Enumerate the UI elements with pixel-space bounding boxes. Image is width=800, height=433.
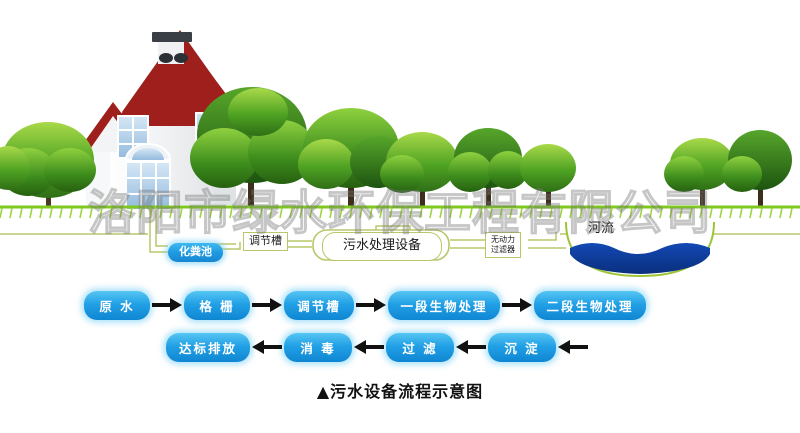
arrow-right-2: [250, 297, 284, 313]
label-septic-tank: 化粪池: [168, 243, 223, 262]
tree-group-left: [0, 122, 96, 206]
tree-group-right-b: [520, 144, 576, 206]
flow-node-filtration[interactable]: 过 滤: [386, 333, 454, 362]
tree-group-right-a: [448, 128, 528, 206]
illustration-scene: 化粪池 调节槽 污水处理设备 无动力 过滤器 河流: [0, 0, 800, 285]
arrow-left-1: [250, 339, 284, 355]
label-passive-filter: 无动力 过滤器: [485, 232, 521, 258]
flow-row-top: 原 水 格 栅 调节槽 一段生物处理 二段生物处理: [0, 288, 800, 322]
flow-node-bio-stage-1[interactable]: 一段生物处理: [388, 291, 500, 320]
flow-node-equalization[interactable]: 调节槽: [284, 291, 354, 320]
flow-node-disinfection[interactable]: 消 毒: [284, 333, 352, 362]
process-flowchart: 原 水 格 栅 调节槽 一段生物处理 二段生物处理 达标排放 消 毒: [0, 288, 800, 388]
flow-node-grating[interactable]: 格 栅: [184, 291, 250, 320]
label-passive-filter-line1: 无动力: [491, 235, 515, 245]
label-equalization-tank: 调节槽: [243, 232, 288, 251]
flow-node-sedimentation[interactable]: 沉 淀: [488, 333, 556, 362]
arrow-left-4: [556, 339, 590, 355]
label-treatment-equipment: 污水处理设备: [322, 232, 442, 261]
arrow-left-2: [352, 339, 386, 355]
flow-node-raw-water[interactable]: 原 水: [84, 291, 150, 320]
label-passive-filter-line2: 过滤器: [491, 245, 515, 255]
tree-group-far-right-b: [722, 130, 792, 206]
flow-node-compliant-discharge[interactable]: 达标排放: [166, 333, 250, 362]
arrow-right-3: [354, 297, 388, 313]
diagram-caption: ▲污水设备流程示意图: [0, 378, 800, 402]
arrow-right-4: [500, 297, 534, 313]
flow-row-bottom: 达标排放 消 毒 过 滤 沉 淀: [0, 330, 800, 364]
arrow-left-3: [454, 339, 488, 355]
ground-line: [0, 207, 800, 218]
arrow-right-1: [150, 297, 184, 313]
flow-node-bio-stage-2[interactable]: 二段生物处理: [534, 291, 646, 320]
label-river: 河流: [588, 222, 614, 237]
diagram-canvas: 化粪池 调节槽 污水处理设备 无动力 过滤器 河流 洛阳市绿水环保工程有限公司 …: [0, 0, 800, 433]
